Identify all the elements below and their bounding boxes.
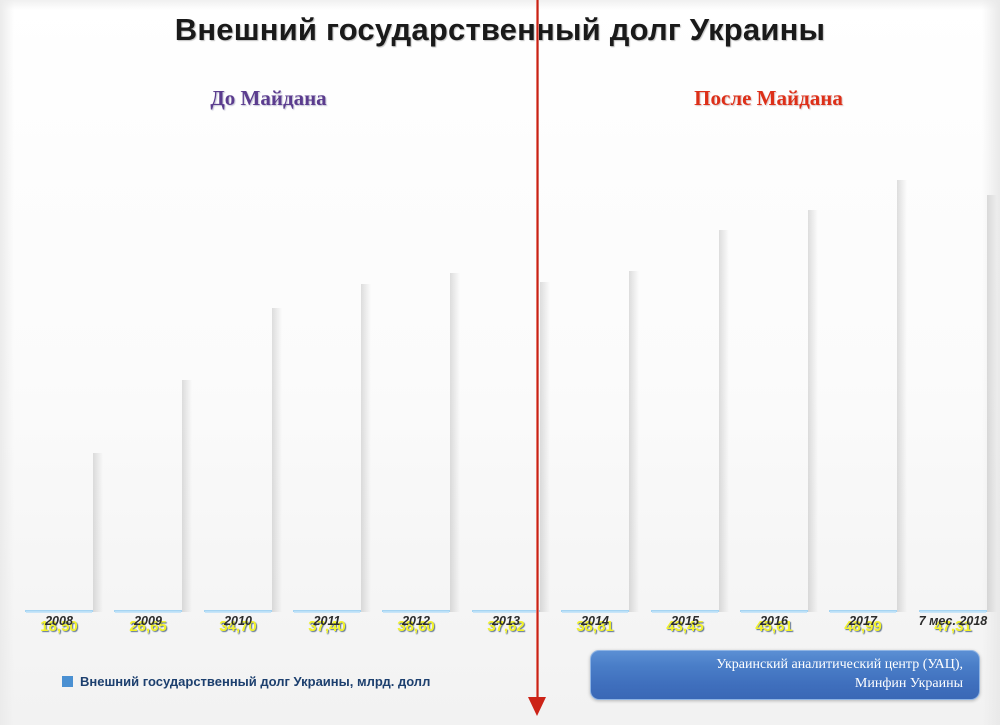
bar-2012[interactable]: 38,60 bbox=[382, 610, 450, 612]
bar-7-мес-2018[interactable]: 47,31 bbox=[919, 610, 987, 612]
bar-shadow bbox=[93, 453, 103, 612]
maidan-divider-line bbox=[536, 0, 539, 705]
bar-shadow bbox=[540, 282, 550, 612]
category-label-2012: 2012 bbox=[370, 614, 462, 628]
bar-2017[interactable]: 48,99 bbox=[829, 610, 897, 612]
source-attribution-box: Украинский аналитический центр (УАЦ), Ми… bbox=[590, 650, 980, 700]
bar-shadow bbox=[450, 273, 460, 612]
bar-group: 38,60 bbox=[382, 267, 450, 612]
bar-shadow bbox=[987, 195, 997, 612]
bar-2009[interactable]: 26,65 bbox=[114, 610, 182, 612]
category-label-2009: 2009 bbox=[102, 614, 194, 628]
bar-group: 26,65 bbox=[114, 374, 182, 612]
source-line-2: Минфин Украины bbox=[591, 675, 963, 694]
bar-shadow bbox=[897, 180, 907, 612]
bar-shadow bbox=[182, 380, 192, 612]
chart-legend: Внешний государственный долг Украины, мл… bbox=[62, 674, 430, 689]
bar-shadow bbox=[808, 210, 818, 612]
bar-group: 37,40 bbox=[293, 278, 361, 612]
bar-group: 45,61 bbox=[740, 204, 808, 612]
bar-2014[interactable]: 38,81 bbox=[561, 610, 629, 612]
bar-2016[interactable]: 45,61 bbox=[740, 610, 808, 612]
category-label-2008: 2008 bbox=[13, 614, 105, 628]
bar-shadow bbox=[629, 271, 639, 612]
category-label-7-мес-2018: 7 мес. 2018 bbox=[907, 614, 999, 628]
category-label-2014: 2014 bbox=[549, 614, 641, 628]
category-label-2017: 2017 bbox=[817, 614, 909, 628]
bar-shadow bbox=[272, 308, 282, 612]
bar-group: 47,31 bbox=[919, 189, 987, 612]
slide-canvas: Внешний государственный долг Украины До … bbox=[0, 0, 1000, 725]
bar-2010[interactable]: 34,70 bbox=[204, 610, 272, 612]
bar-2008[interactable]: 18,50 bbox=[25, 610, 93, 612]
legend-swatch-icon bbox=[62, 676, 73, 687]
bar-chart-plot: 18,50200826,65200934,70201037,40201138,6… bbox=[0, 0, 1000, 725]
category-label-2015: 2015 bbox=[639, 614, 731, 628]
bar-group: 38,81 bbox=[561, 265, 629, 612]
legend-label: Внешний государственный долг Украины, мл… bbox=[80, 674, 430, 689]
bar-group: 48,99 bbox=[829, 174, 897, 612]
bar-shadow bbox=[719, 230, 729, 612]
bar-2015[interactable]: 43,45 bbox=[651, 610, 719, 612]
bar-group: 37,62 bbox=[472, 276, 540, 612]
category-label-2011: 2011 bbox=[281, 614, 373, 628]
bar-shadow bbox=[361, 284, 371, 612]
category-label-2016: 2016 bbox=[728, 614, 820, 628]
category-label-2010: 2010 bbox=[192, 614, 284, 628]
bar-2011[interactable]: 37,40 bbox=[293, 610, 361, 612]
source-line-1: Украинский аналитический центр (УАЦ), bbox=[591, 656, 963, 675]
maidan-divider-arrow-icon bbox=[528, 697, 546, 716]
bar-2013[interactable]: 37,62 bbox=[472, 610, 540, 612]
bar-group: 43,45 bbox=[651, 224, 719, 612]
bar-group: 18,50 bbox=[25, 447, 93, 612]
bar-group: 34,70 bbox=[204, 302, 272, 612]
